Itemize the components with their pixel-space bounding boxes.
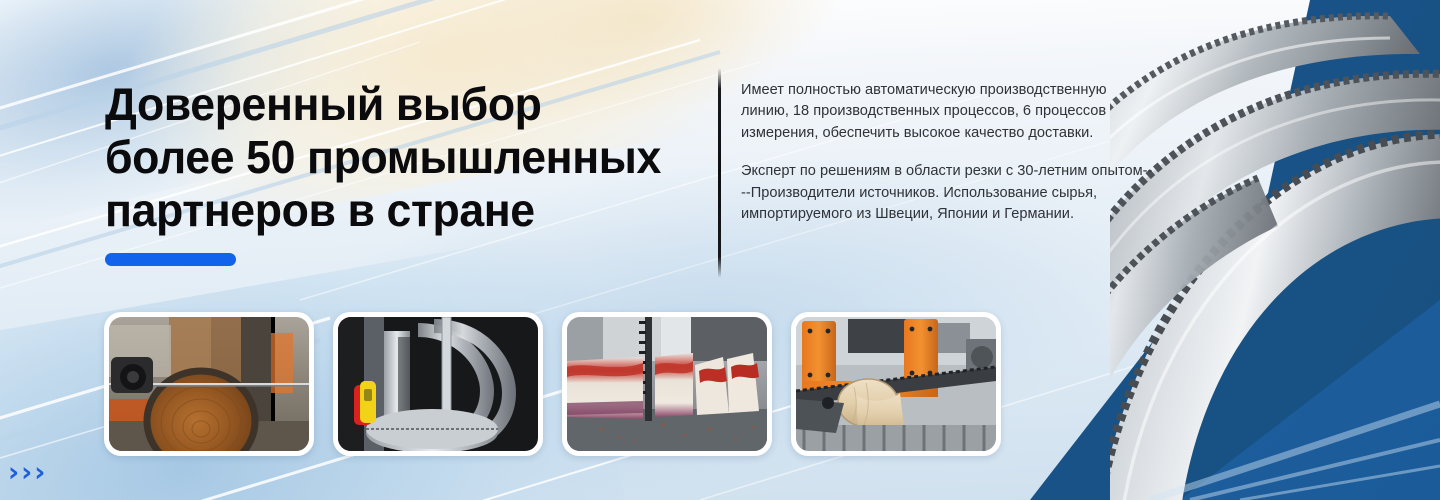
thumbnail-card-frozen-meat-cutting[interactable]: [562, 312, 772, 456]
headline-line-1: Доверенный выбор: [105, 78, 687, 131]
thumbnail-card-metal-bandsaw-blades[interactable]: [333, 312, 543, 456]
description-block: Имеет полностью автоматическую производс…: [741, 80, 1153, 225]
metal-bandsaw-blades-image: [338, 317, 538, 451]
chevron-right-icon-3[interactable]: ›: [34, 459, 45, 486]
description-paragraph-1: Имеет полностью автоматическую производс…: [741, 80, 1153, 144]
promo-banner: Доверенный выбор более 50 промышленных п…: [0, 0, 1440, 500]
thumbnail-card-wood-log-cutting[interactable]: [104, 312, 314, 456]
frozen-meat-cutting-image: [567, 317, 767, 451]
thumbnail-card-list: [104, 312, 1001, 456]
bandsaw-blades-image: [1110, 0, 1440, 500]
headline-block: Доверенный выбор более 50 промышленных п…: [105, 78, 705, 266]
chevron-right-icon-2[interactable]: ›: [21, 459, 32, 486]
description-paragraph-2: Эксперт по решениям в области резки с 30…: [741, 161, 1153, 225]
accent-underline-bar: [105, 253, 236, 266]
wood-log-cutting-image: [109, 317, 309, 451]
vertical-divider: [718, 68, 721, 278]
headline-line-3: партнеров в стране: [105, 184, 687, 237]
thumbnail-card-industrial-bandsaw-machine[interactable]: [791, 312, 1001, 456]
carousel-next-arrows[interactable]: › › ›: [8, 459, 45, 486]
chevron-right-icon-1[interactable]: ›: [8, 459, 19, 486]
industrial-bandsaw-machine-image: [796, 317, 996, 451]
headline-line-2: более 50 промышленных: [105, 131, 687, 184]
